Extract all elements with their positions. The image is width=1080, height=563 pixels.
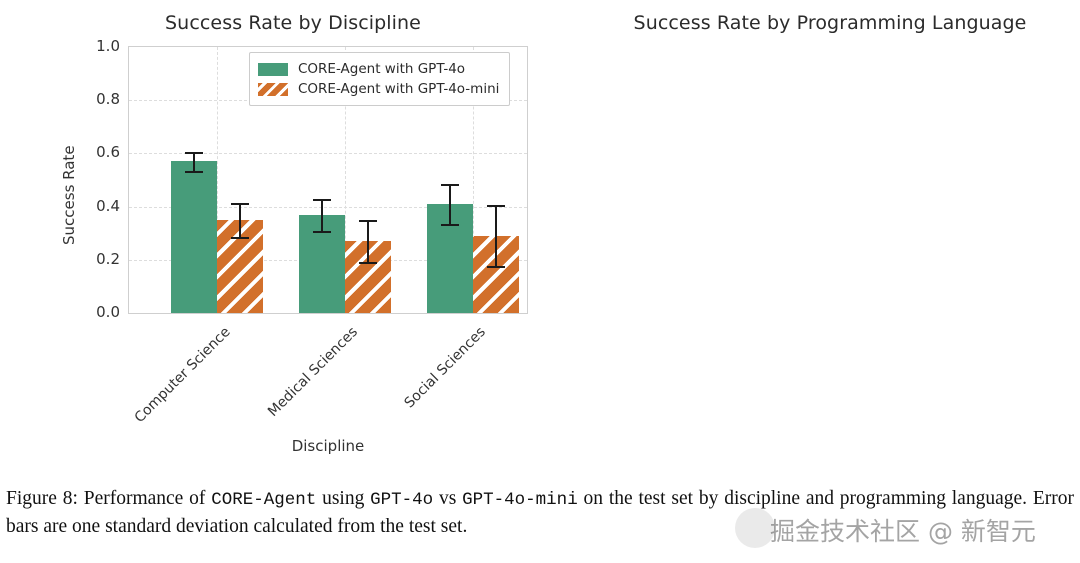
error-bar-line [367,220,369,263]
legend-swatch-gpt4o [258,63,288,76]
caption-text-2: using [316,488,370,509]
y-axis-tick: 0.8 [74,90,120,108]
x-axis-tick: Social Sciences [401,324,488,411]
error-bar-line [449,184,451,224]
caption-text-3: vs [433,488,462,509]
caption-text-1: Performance of [78,488,211,509]
y-axis-tick: 0.4 [74,197,120,215]
error-bar-cap-upper [487,205,505,207]
watermark-logo [735,508,775,548]
y-axis-tick: 1.0 [74,37,120,55]
error-bar-cap-lower [185,171,203,173]
legend-label-gpt4o: CORE-Agent with GPT-4o [298,61,465,77]
chart-panel-language: Success Rate by Programming Language Suc… [540,0,1080,470]
y-axis-tick: 0.2 [74,250,120,268]
error-bar-cap-upper [185,152,203,154]
bar-gpt4o [171,161,217,313]
error-bar-cap-upper [359,220,377,222]
error-bar-cap-lower [441,224,459,226]
error-bar-cap-upper [231,203,249,205]
error-bar-cap-lower [359,262,377,264]
error-bar-cap-upper [313,199,331,201]
y-axis-tick: 0.0 [74,303,120,321]
figure-panel-container: Success Rate by Discipline Success Rate … [0,0,1080,470]
legend-swatch-gpt4o-mini [258,83,288,96]
error-bar-line [321,199,323,231]
error-bar-line [495,205,497,266]
legend-item-gpt4o-mini: CORE-Agent with GPT-4o-mini [258,79,499,99]
error-bar-cap-lower [487,266,505,268]
caption-figure-number: Figure 8: [6,488,78,509]
caption-mono-gpt4o: GPT-4o [370,490,433,510]
y-axis-tick: 0.6 [74,143,120,161]
error-bar-cap-upper [441,184,459,186]
chart-title-language: Success Rate by Programming Language [540,12,1080,34]
chart-panel-discipline: Success Rate by Discipline Success Rate … [0,0,540,470]
legend-discipline: CORE-Agent with GPT-4o CORE-Agent with G… [249,52,510,106]
error-bar-cap-lower [313,231,331,233]
chart-title-discipline: Success Rate by Discipline [0,12,540,34]
error-bar-line [239,203,241,238]
x-axis-label-left: Discipline [128,437,528,455]
x-axis-tick: Medical Sciences [265,324,361,420]
error-bar-line [193,152,195,171]
figure-caption: Figure 8: Performance of CORE-Agent usin… [6,485,1074,541]
legend-label-gpt4o-mini: CORE-Agent with GPT-4o-mini [298,81,499,97]
x-axis-tick: Computer Science [132,324,234,426]
caption-mono-gpt4o-mini: GPT-4o-mini [462,490,578,510]
legend-item-gpt4o: CORE-Agent with GPT-4o [258,59,499,79]
error-bar-cap-lower [231,237,249,239]
caption-mono-core-agent: CORE-Agent [211,490,316,510]
